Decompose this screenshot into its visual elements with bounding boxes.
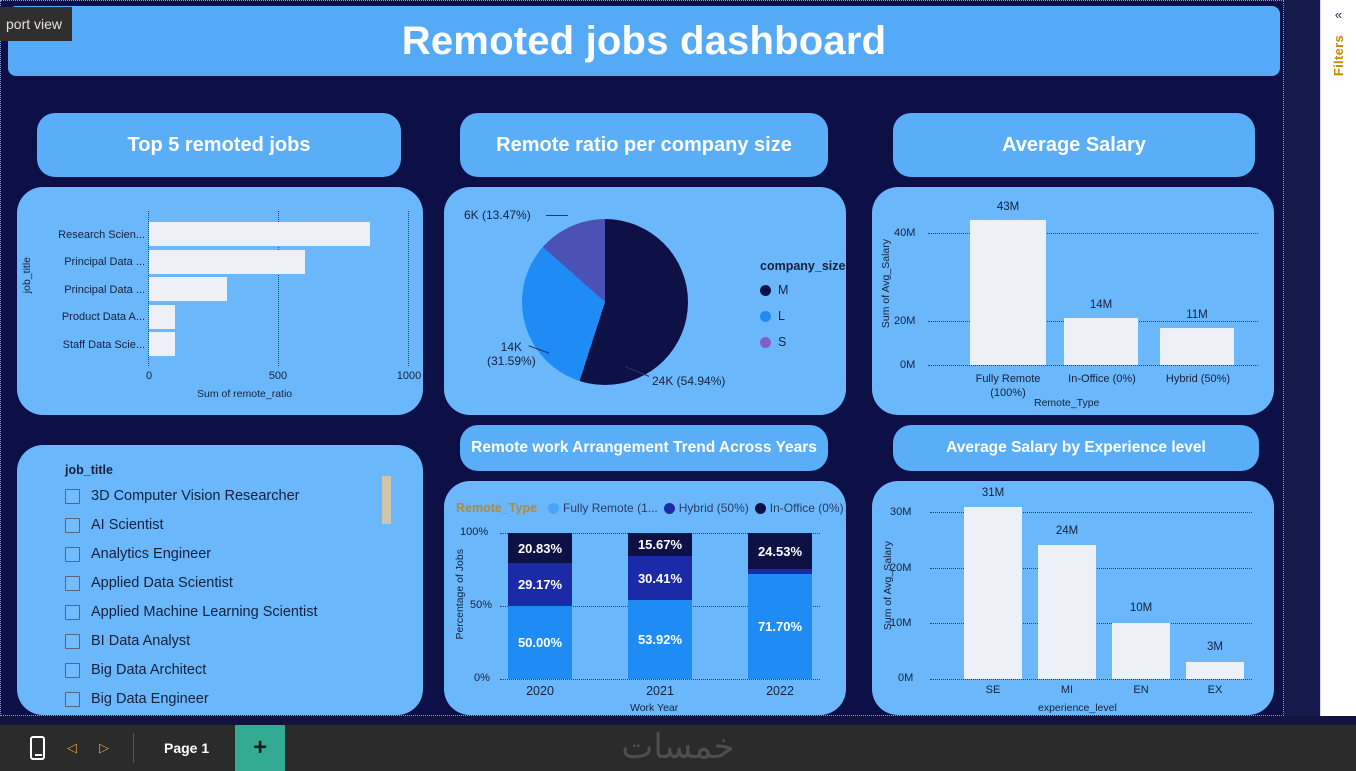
phone-layout-icon[interactable] xyxy=(30,736,45,760)
xtick-in-office: In-Office (0%) xyxy=(1054,373,1150,385)
ytick-0m-2: 0M xyxy=(898,672,913,684)
card-title-average-salary[interactable]: Average Salary xyxy=(893,113,1255,177)
value-label-mi: 24M xyxy=(1038,525,1096,537)
value-label-ex: 3M xyxy=(1186,641,1244,653)
legend-label-l: L xyxy=(778,309,785,323)
stack-2022-hybrid[interactable] xyxy=(748,569,812,574)
slicer-item-4[interactable]: Applied Machine Learning Scientist xyxy=(65,604,318,620)
axis-title-remote-type: Remote_Type xyxy=(1034,397,1099,409)
pie-legend-item-l[interactable]: L xyxy=(760,309,785,323)
stacked-legend-item-in-office[interactable]: In-Office (0%) xyxy=(755,501,844,515)
axis-title-sum-remote-ratio: Sum of remote_ratio xyxy=(197,388,292,400)
bar-in-office[interactable] xyxy=(1064,318,1138,365)
add-page-button[interactable]: + xyxy=(235,725,285,771)
bar-label-0: Research Scien... xyxy=(53,229,145,241)
pie-slices[interactable] xyxy=(522,219,688,385)
bar-ex[interactable] xyxy=(1186,662,1244,679)
axis-title-work-year: Work Year xyxy=(630,702,678,714)
slicer-item-label-6: Big Data Architect xyxy=(91,662,206,678)
legend-label-fully-remote: Fully Remote (1... xyxy=(563,501,658,515)
bar-row-2[interactable] xyxy=(149,277,227,301)
stack-2021-hybrid[interactable]: 30.41% xyxy=(628,556,692,600)
pie-legend-item-s[interactable]: S xyxy=(760,335,786,349)
axis-title-percentage-jobs: Percentage of Jobs xyxy=(454,549,466,639)
slicer-checkbox-5[interactable] xyxy=(65,634,80,649)
slicer-checkbox-2[interactable] xyxy=(65,547,80,562)
bar-row-0[interactable] xyxy=(149,222,370,246)
legend-label-s: S xyxy=(778,335,786,349)
ytick-100pct: 100% xyxy=(460,526,488,538)
slicer-item-label-7: Big Data Engineer xyxy=(91,691,209,707)
card-title-experience-label: Average Salary by Experience level xyxy=(946,439,1206,457)
xtick-1000: 1000 xyxy=(391,370,427,382)
pie-callout-s: 6K (13.47%) xyxy=(464,209,531,223)
status-bar: ◁ ▷ Page 1 + خمسات xyxy=(0,725,1356,771)
ytick-10m-2: 10M xyxy=(890,617,911,629)
axis-title-job-title: job_title xyxy=(21,257,33,293)
stacked-legend-title: Remote_Type xyxy=(456,501,537,515)
value-label-fully-remote: 43M xyxy=(970,201,1046,213)
bar-mi[interactable] xyxy=(1038,545,1096,679)
chart-salary-by-experience[interactable]: Sum of Avg_Salary 30M 10M 20M 0M 31M 24M… xyxy=(872,481,1274,715)
ytick-30m-2: 30M xyxy=(890,506,911,518)
slicer-item-label-5: BI Data Analyst xyxy=(91,633,190,649)
xtick-2020: 2020 xyxy=(508,684,572,698)
ytick-20m-2: 20M xyxy=(890,562,911,574)
stack-2021-fully-remote[interactable]: 53.92% xyxy=(628,600,692,679)
stack-2020-hybrid[interactable]: 29.17% xyxy=(508,563,572,606)
bar-label-1: Principal Data ... xyxy=(53,256,145,268)
bar-hybrid[interactable] xyxy=(1160,328,1234,365)
legend-label-in-office: In-Office (0%) xyxy=(770,501,844,515)
slicer-item-label-1: AI Scientist xyxy=(91,517,164,533)
ytick-20m-1: 20M xyxy=(894,315,915,327)
bar-label-4: Staff Data Scie... xyxy=(53,339,145,351)
bar-label-2: Principal Data ... xyxy=(53,284,145,296)
gridline-y-0m-1 xyxy=(928,365,1258,366)
slicer-checkbox-0[interactable] xyxy=(65,489,80,504)
chart-top5-remoted-jobs[interactable]: job_title Research Scien... Principal Da… xyxy=(17,187,423,415)
xtick-ex: EX xyxy=(1186,684,1244,696)
axis-title-experience-level: experience_level xyxy=(1038,702,1117,714)
pie-legend-title: company_size xyxy=(760,259,845,273)
pie-callout-m: 24K (54.94%) xyxy=(652,375,725,389)
page-title: Remoted jobs dashboard xyxy=(402,19,886,64)
legend-dot-l xyxy=(760,311,771,322)
legend-label-m: M xyxy=(778,283,788,297)
xtick-hybrid: Hybrid (50%) xyxy=(1150,373,1246,385)
slicer-checkbox-6[interactable] xyxy=(65,663,80,678)
gridline-0pct xyxy=(500,679,820,680)
next-page-icon[interactable]: ▷ xyxy=(99,740,109,756)
slicer-title-label: job_title xyxy=(65,463,113,477)
legend-dot-in-office xyxy=(755,503,766,514)
filters-pane-label: Filters xyxy=(1331,35,1346,76)
stack-2022-fully-remote[interactable]: 71.70% xyxy=(748,574,812,679)
bar-label-3: Product Data A... xyxy=(53,311,145,323)
pie-legend-item-m[interactable]: M xyxy=(760,283,788,297)
report-canvas[interactable]: Remoted jobs dashboard Top 5 remoted job… xyxy=(0,0,1284,716)
legend-dot-hybrid xyxy=(664,503,675,514)
bar-row-3[interactable] xyxy=(149,305,175,329)
ytick-0m-1: 0M xyxy=(900,359,915,371)
card-title-average-salary-label: Average Salary xyxy=(1002,134,1146,157)
page-tab-page-1[interactable]: Page 1 xyxy=(164,740,209,756)
filters-pane-collapsed[interactable]: « Filters xyxy=(1320,0,1356,716)
dashboard-title-banner: Remoted jobs dashboard xyxy=(8,6,1280,76)
card-title-top5-label: Top 5 remoted jobs xyxy=(128,134,311,157)
slicer-checkbox-1[interactable] xyxy=(65,518,80,533)
slicer-item-label-0: 3D Computer Vision Researcher xyxy=(91,488,299,504)
slicer-item-3[interactable]: Applied Data Scientist xyxy=(65,575,233,591)
report-view-tooltip-label: port view xyxy=(6,16,62,32)
gridline-x-1000 xyxy=(408,211,409,366)
legend-dot-m xyxy=(760,285,771,296)
xtick-en: EN xyxy=(1112,684,1170,696)
bar-row-4[interactable] xyxy=(149,332,175,356)
chevron-double-left-icon[interactable]: « xyxy=(1335,8,1342,21)
value-label-in-office: 14M xyxy=(1064,299,1138,311)
slicer-item-label-2: Analytics Engineer xyxy=(91,546,211,562)
ytick-0pct: 0% xyxy=(474,672,490,684)
pie-leader-s xyxy=(546,215,568,216)
slicer-item-label-4: Applied Machine Learning Scientist xyxy=(91,604,318,620)
slicer-checkbox-7[interactable] xyxy=(65,692,80,707)
stacked-legend-item-hybrid[interactable]: Hybrid (50%) xyxy=(664,501,749,515)
slicer-item-7[interactable]: Big Data Engineer xyxy=(65,691,209,707)
stack-2022-in-office[interactable]: 24.53% xyxy=(748,533,812,569)
power-bi-report-window: Remoted jobs dashboard Top 5 remoted job… xyxy=(0,0,1356,771)
gridline-y-0m-2 xyxy=(930,679,1252,680)
stack-2020-in-office[interactable]: 20.83% xyxy=(508,533,572,563)
stack-2020-fully-remote[interactable]: 50.00% xyxy=(508,606,572,679)
xtick-2022: 2022 xyxy=(748,684,812,698)
slicer-item-2[interactable]: Analytics Engineer xyxy=(65,546,211,562)
report-view-tooltip: port view xyxy=(0,7,72,41)
legend-label-hybrid: Hybrid (50%) xyxy=(679,501,749,515)
xtick-0: 0 xyxy=(142,370,156,382)
chart-remote-trend-stacked[interactable]: Remote_Type Fully Remote (1... Hybrid (5… xyxy=(444,481,846,715)
bar-se[interactable] xyxy=(964,507,1022,679)
card-title-top5[interactable]: Top 5 remoted jobs xyxy=(37,113,401,177)
value-label-se: 31M xyxy=(964,487,1022,499)
axis-title-sum-avg-salary-1: Sum of Avg_Salary xyxy=(880,239,892,328)
slicer-item-label-3: Applied Data Scientist xyxy=(91,575,233,591)
card-title-trend[interactable]: Remote work Arrangement Trend Across Yea… xyxy=(460,425,828,471)
stacked-legend-item-fully-remote[interactable]: Fully Remote (1... xyxy=(548,501,658,515)
bar-en[interactable] xyxy=(1112,623,1170,679)
xtick-se: SE xyxy=(964,684,1022,696)
slicer-item-6[interactable]: Big Data Architect xyxy=(65,662,206,678)
chart-average-salary-remote-type[interactable]: Sum of Avg_Salary 40M 20M 0M 43M 14M 11M… xyxy=(872,187,1274,415)
slicer-checkbox-4[interactable] xyxy=(65,605,80,620)
card-title-trend-label: Remote work Arrangement Trend Across Yea… xyxy=(471,439,817,457)
card-title-experience[interactable]: Average Salary by Experience level xyxy=(893,425,1259,471)
stacked-legend[interactable]: Remote_Type Fully Remote (1... Hybrid (5… xyxy=(456,501,844,515)
slicer-checkbox-3[interactable] xyxy=(65,576,80,591)
previous-page-icon[interactable]: ◁ xyxy=(67,740,77,756)
stack-2021-in-office[interactable]: 15.67% xyxy=(628,533,692,556)
chart-remote-ratio-pie[interactable]: 6K (13.47%) 14K (31.59%) 24K (54.94%) co… xyxy=(444,187,846,415)
slicer-item-0[interactable]: 3D Computer Vision Researcher xyxy=(65,488,299,504)
legend-dot-s xyxy=(760,337,771,348)
xtick-mi: MI xyxy=(1038,684,1096,696)
xtick-2021: 2021 xyxy=(628,684,692,698)
slicer-item-1[interactable]: AI Scientist xyxy=(65,517,164,533)
ytick-40m-1: 40M xyxy=(894,227,915,239)
legend-dot-fully-remote xyxy=(548,503,559,514)
ytick-50pct: 50% xyxy=(470,599,492,611)
card-title-remote-ratio[interactable]: Remote ratio per company size xyxy=(460,113,828,177)
slicer-scrollbar[interactable] xyxy=(382,476,391,524)
status-bar-divider xyxy=(133,733,134,763)
bar-row-1[interactable] xyxy=(149,250,305,274)
card-title-remote-ratio-label: Remote ratio per company size xyxy=(496,134,792,157)
value-label-hybrid: 11M xyxy=(1160,309,1234,321)
pie-callout-l-value: 14K xyxy=(487,341,536,355)
value-label-en: 10M xyxy=(1112,602,1170,614)
slicer-job-title[interactable]: job_title 3D Computer Vision Researcher … xyxy=(17,445,423,715)
right-rail-background xyxy=(1284,0,1320,716)
xtick-500: 500 xyxy=(263,370,293,382)
pie-callout-l-percent: (31.59%) xyxy=(487,355,536,369)
bar-fully-remote[interactable] xyxy=(970,220,1046,365)
slicer-item-5[interactable]: BI Data Analyst xyxy=(65,633,190,649)
